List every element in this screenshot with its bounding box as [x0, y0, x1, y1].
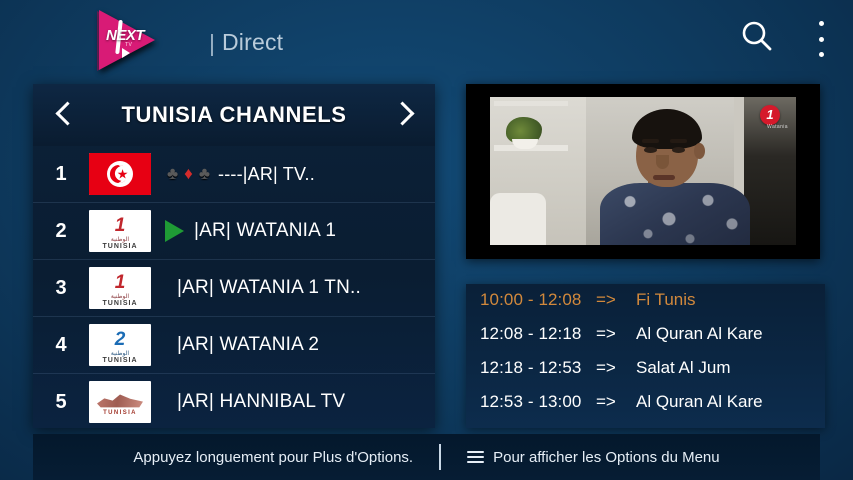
epg-row[interactable]: 12:18 - 12:53 => Salat Al Jum [466, 358, 825, 392]
channel-logo-watania-1: 1 الوطنية TUNISIA [89, 210, 151, 252]
video-person-eye [672, 147, 685, 153]
channel-name: |AR| WATANIA 1 [184, 220, 336, 242]
hamburger-line [467, 461, 484, 463]
channel-watermark-icon: 1 [760, 105, 780, 125]
hamburger-line [467, 456, 484, 458]
epg-arrow: => [596, 358, 636, 378]
channel-logo-watania-2: 2 الوطنية TUNISIA [89, 324, 151, 366]
app-logo[interactable]: NEXT TV [95, 6, 167, 74]
video-person-mouth [653, 175, 675, 180]
channel-logo-watania-1: 1 الوطنية TUNISIA [89, 267, 151, 309]
video-shelf-top [494, 101, 568, 106]
video-person-eye [644, 147, 657, 153]
video-person-shirt [600, 183, 750, 245]
epg-title: Al Quran Al Kare [636, 392, 763, 412]
logo-play-icon [122, 48, 130, 58]
channel-logo-tunisia-flag: ★ [89, 153, 151, 195]
epg-time: 12:08 - 12:18 [480, 324, 596, 344]
hamburger-icon [467, 451, 484, 463]
tv-app-screen: NEXT TV | Direct TUNISIA CHANNELS [0, 0, 853, 480]
hannibal-mark [97, 392, 143, 408]
watania-country: TUNISIA [103, 243, 138, 250]
epg-panel: 10:00 - 12:08 => Fi Tunis 12:08 - 12:18 … [466, 284, 825, 428]
channel-name-suits: ♣ ♦ ♣ ----|AR| TV.. [151, 164, 315, 185]
tunisia-flag-icon: ★ [89, 153, 151, 195]
video-person-nose [656, 155, 669, 169]
kebab-dot [819, 37, 824, 42]
watania-country: TUNISIA [103, 357, 138, 364]
kebab-dot [819, 21, 824, 26]
club-icon: ♣ [199, 164, 210, 184]
epg-row-current[interactable]: 10:00 - 12:08 => Fi Tunis [466, 290, 825, 324]
video-person-hair [632, 109, 702, 149]
channel-row-1[interactable]: 1 ★ ♣ ♦ ♣ ----|AR| TV.. [33, 146, 435, 203]
channel-list: 1 ★ ♣ ♦ ♣ ----|AR| TV.. 2 [33, 146, 435, 428]
video-frame: 1 Watania [490, 97, 796, 245]
channel-row-4[interactable]: 4 2 الوطنية TUNISIA |AR| WATANIA 2 [33, 317, 435, 374]
video-chair [490, 193, 546, 245]
video-person-brow [642, 139, 659, 143]
video-preview[interactable]: 1 Watania [466, 84, 820, 259]
epg-title: Salat Al Jum [636, 358, 731, 378]
channel-logo-hannibal-tv: TUNISIA [89, 381, 151, 423]
channel-number: 4 [33, 334, 89, 357]
footer-hint-bar: Appuyez longuement pour Plus d'Options. … [33, 434, 820, 480]
epg-time: 12:18 - 12:53 [480, 358, 596, 378]
search-icon[interactable] [738, 17, 776, 55]
flag-star: ★ [117, 168, 129, 181]
hannibal-country: TUNISIA [89, 410, 151, 416]
channel-name: |AR| WATANIA 2 [167, 334, 319, 356]
epg-arrow: => [596, 324, 636, 344]
watania1-logo-icon: 1 الوطنية TUNISIA [103, 270, 138, 307]
epg-time: 10:00 - 12:08 [480, 290, 596, 310]
watania2-logo-icon: 2 الوطنية TUNISIA [103, 327, 138, 364]
channel-watermark-label: Watania [767, 124, 788, 130]
epg-row[interactable]: 12:53 - 13:00 => Al Quran Al Kare [466, 392, 825, 426]
video-person-ear [694, 143, 705, 159]
kebab-dot [819, 52, 824, 57]
hannibal-logo-icon: TUNISIA [89, 388, 151, 416]
channel-list-panel: TUNISIA CHANNELS 1 ★ ♣ ♦ ♣ ----| [33, 84, 435, 428]
channel-row-2[interactable]: 2 1 الوطنية TUNISIA |AR| WATANIA 1 [33, 203, 435, 260]
title-separator: | [209, 30, 215, 57]
page-title: Direct [222, 29, 283, 56]
watania1-logo-icon: 1 الوطنية TUNISIA [103, 213, 138, 250]
club-icon: ♣ [167, 164, 178, 184]
logo-text: NEXT [106, 28, 144, 43]
epg-row[interactable]: 12:08 - 12:18 => Al Quran Al Kare [466, 324, 825, 358]
top-bar: NEXT TV | Direct [0, 0, 853, 80]
channel-number: 3 [33, 277, 89, 300]
prev-group-arrow[interactable] [51, 102, 77, 128]
epg-title: Fi Tunis [636, 290, 696, 310]
now-playing-icon [165, 220, 184, 242]
channel-number: 5 [33, 391, 89, 414]
channel-name: |AR| WATANIA 1 TN.. [167, 277, 361, 299]
channel-number: 1 [33, 163, 89, 186]
epg-arrow: => [596, 392, 636, 412]
hamburger-line [467, 451, 484, 453]
next-group-arrow[interactable] [391, 102, 417, 128]
footer-long-press-hint: Appuyez longuement pour Plus d'Options. [133, 449, 439, 466]
video-person-brow [670, 139, 687, 143]
diamond-icon: ♦ [184, 164, 193, 184]
epg-time: 12:53 - 13:00 [480, 392, 596, 412]
epg-arrow: => [596, 290, 636, 310]
channel-name: |AR| HANNIBAL TV [167, 391, 345, 413]
overflow-menu-icon[interactable] [812, 19, 830, 59]
channel-number: 2 [33, 220, 89, 243]
channel-row-3[interactable]: 3 1 الوطنية TUNISIA |AR| WATANIA 1 TN.. [33, 260, 435, 317]
footer-menu-hint-label: Pour afficher les Options du Menu [493, 449, 720, 466]
watania-mark: 1 [103, 273, 138, 292]
footer-menu-hint[interactable]: Pour afficher les Options du Menu [441, 449, 720, 466]
channel-name: ----|AR| TV.. [216, 164, 315, 185]
channel-group-header: TUNISIA CHANNELS [33, 84, 435, 146]
watania-mark: 1 [103, 216, 138, 235]
channel-row-5[interactable]: 5 TUNISIA |AR| HANNIBAL TV [33, 374, 435, 428]
channel-group-title: TUNISIA CHANNELS [121, 102, 346, 128]
watania-mark: 2 [103, 330, 138, 349]
epg-title: Al Quran Al Kare [636, 324, 763, 344]
watania-country: TUNISIA [103, 300, 138, 307]
